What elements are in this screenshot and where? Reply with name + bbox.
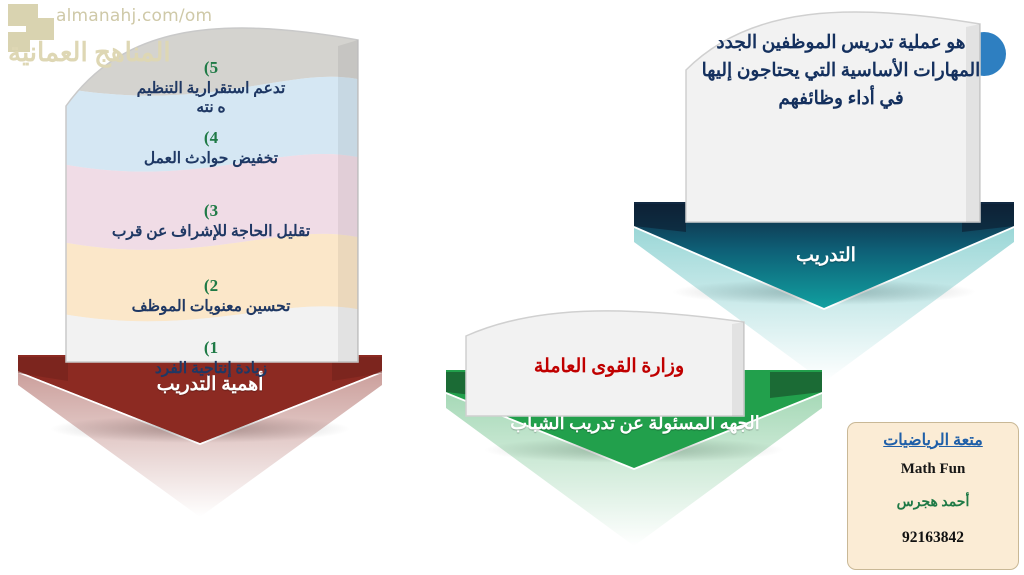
stack-layer-2-num: 2) [204, 276, 218, 295]
signature-subtitle: Math Fun [848, 461, 1018, 478]
stack-layer-4: 4) تخفيض حوادث العمل [66, 108, 356, 168]
signature-box: متعة الرياضيات Math Fun أحمد هجرس 921638… [847, 422, 1019, 570]
stack-layer-4-num: 4) [204, 128, 218, 147]
stack-layer-2: 2) تحسين معنويات الموظف [66, 256, 356, 316]
stack-layer-3-num: 3) [204, 201, 218, 220]
stack-layer-3: 3) تقليل الحاجة للإشراف عن قرب [66, 181, 356, 241]
stack-layer-1-num: 1) [204, 338, 218, 357]
stack-layer-1: 1) زيادة إنتاجية الفرد [66, 318, 356, 378]
slide-canvas: أهمية التدريب [0, 0, 1024, 575]
stack-layer-4-text: تخفيض حوادث العمل [144, 150, 278, 167]
signature-phone: 92163842 [848, 529, 1018, 547]
stack-layer-5: 5) تدعم استقرارية التنظيم ه نته [66, 38, 356, 118]
importance-of-training-stack: 5) تدعم استقرارية التنظيم ه نته 4) تخفيض… [62, 18, 362, 366]
signature-title: متعة الرياضيات [848, 430, 1018, 450]
almanahj-logo-icon [8, 4, 66, 56]
stack-layer-1-text: زيادة إنتاجية الفرد [155, 360, 267, 377]
right-banner-label: التدريب [628, 244, 1024, 268]
ministry-card-text: وزارة القوى العاملة [472, 355, 746, 378]
training-definition-text: هو عملية تدريس الموظفين الجدد المهارات ا… [700, 30, 982, 113]
stack-layer-3-text: تقليل الحاجة للإشراف عن قرب [112, 223, 310, 240]
stack-layer-2-text: تحسين معنويات الموظف [132, 298, 291, 315]
stack-layer-5-num: 5) [204, 58, 218, 77]
signature-author-name: أحمد هجرس [848, 494, 1018, 511]
